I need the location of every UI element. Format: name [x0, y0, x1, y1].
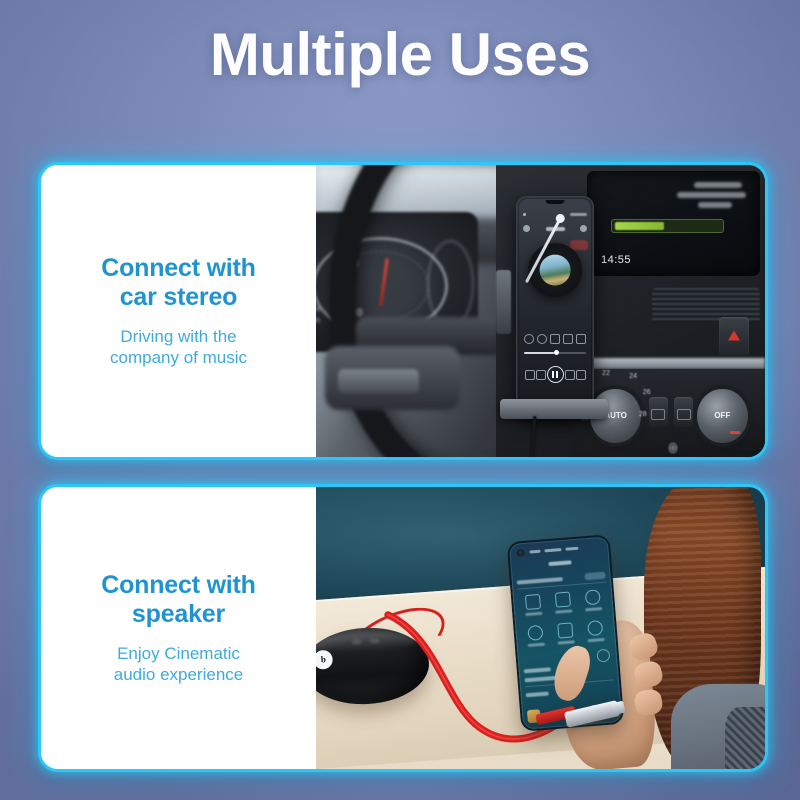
climate-indicator-led: [730, 431, 740, 434]
card-heading-line-1: Connect with: [101, 254, 256, 283]
device-name-label: [516, 576, 562, 584]
playback-controls: [525, 365, 586, 384]
climate-mark-28: 28: [639, 411, 647, 418]
player-action-row: [524, 333, 586, 346]
grid-item[interactable]: [518, 590, 547, 620]
front-defrost-button[interactable]: [674, 397, 693, 427]
card-subtitle-line-1: Driving with the: [110, 326, 247, 347]
infotainment-screen: 14:55: [587, 171, 759, 276]
grid-item[interactable]: [548, 587, 577, 617]
card-text-panel: Connect with car stereo Driving with the…: [41, 165, 316, 457]
vinyl-record: [528, 243, 582, 297]
connect-button[interactable]: [583, 572, 605, 580]
grid-item-label: [587, 638, 604, 642]
person-sleeve: [725, 707, 765, 769]
steering-wheel-button: [338, 369, 419, 392]
speaker-scene: b: [316, 487, 765, 769]
card-subtitle: Enjoy Cinematic audio experience: [114, 643, 243, 685]
carrier-label: [544, 548, 560, 552]
mounted-phone[interactable]: [516, 196, 595, 418]
lyrics-icon[interactable]: [563, 334, 573, 344]
feature-card-speaker[interactable]: Connect with speaker Enjoy Cinematic aud…: [38, 484, 768, 772]
infotainment-progress-bar: [611, 219, 723, 233]
card-subtitle-line-1: Enjoy Cinematic: [114, 643, 243, 664]
grid-item[interactable]: [580, 616, 609, 646]
chevron-down-icon[interactable]: [523, 225, 530, 232]
album-artwork: [540, 254, 571, 285]
playlist-icon[interactable]: [576, 370, 586, 380]
card-text-panel: Connect with speaker Enjoy Cinematic aud…: [41, 487, 316, 769]
pause-button[interactable]: [547, 366, 564, 383]
status-dot-icon: [523, 213, 526, 216]
phone-holder-base: [500, 399, 608, 419]
grid-item-label: [585, 607, 602, 611]
clock-icon: [587, 620, 603, 636]
grid-item[interactable]: [578, 585, 607, 615]
app-icon-grid: [518, 585, 609, 651]
infotainment-text-line-1: [694, 182, 742, 187]
previous-track-icon[interactable]: [536, 370, 546, 380]
climate-small-knob[interactable]: [668, 442, 678, 453]
grid-item[interactable]: [550, 618, 579, 648]
rear-defrost-button[interactable]: [649, 397, 668, 427]
climate-dial-right[interactable]: OFF: [697, 389, 747, 443]
card-subtitle: Driving with the company of music: [110, 326, 247, 368]
status-signal-icons: [570, 213, 587, 216]
infotainment-text-line-2: [677, 192, 746, 198]
card-subtitle-line-2: company of music: [110, 347, 247, 368]
list-row-label: [525, 691, 548, 697]
car-interior-scene: 70 50 30 h 4.6m 2.0m: [316, 165, 765, 457]
warning-triangle-icon: [728, 330, 740, 340]
climate-mark-22: 22: [602, 370, 610, 377]
infotainment-text-line-3: [698, 202, 732, 207]
poster-canvas: Multiple Uses Connect with car stereo Dr…: [0, 0, 800, 800]
card-heading-line-2: speaker: [101, 600, 256, 629]
favorite-icon[interactable]: [524, 334, 534, 344]
grid-item[interactable]: [521, 621, 550, 651]
console-chrome-trim: [571, 358, 765, 370]
card-heading: Connect with car stereo: [101, 254, 256, 312]
grid-item-label: [527, 643, 544, 647]
bluetooth-icon: [524, 594, 540, 610]
card-photo-speaker: b: [316, 487, 765, 769]
climate-mark-26: 26: [643, 389, 651, 396]
card-heading-line-1: Connect with: [101, 571, 256, 600]
phone-holder-arm: [496, 270, 512, 334]
card-heading-line-2: car stereo: [101, 283, 256, 312]
cluster-readout-3: 2.0m: [316, 315, 320, 325]
audio-jack-icon: [554, 591, 570, 607]
grid-item-label: [557, 640, 574, 644]
battery-icon: [564, 547, 577, 551]
grid-item-label: [555, 609, 572, 613]
phone-screen-music-player[interactable]: [519, 199, 592, 415]
page-title: Multiple Uses: [0, 24, 800, 86]
share-icon[interactable]: [580, 225, 587, 232]
hazard-light-button[interactable]: [719, 317, 749, 355]
download-icon[interactable]: [537, 334, 547, 344]
grid-item-label: [525, 612, 542, 616]
phone-status-bar: [529, 543, 602, 555]
heart-icon: [527, 625, 543, 641]
more-icon[interactable]: [576, 334, 586, 344]
next-track-icon[interactable]: [565, 370, 575, 380]
comment-icon[interactable]: [550, 334, 560, 344]
signal-icon: [529, 550, 541, 554]
feature-card-car-stereo[interactable]: Connect with car stereo Driving with the…: [38, 162, 768, 460]
refresh-icon: [584, 589, 600, 605]
card-photo-car-stereo: 70 50 30 h 4.6m 2.0m: [316, 165, 765, 457]
app-header: [516, 555, 603, 571]
defrost-icon: [651, 409, 665, 420]
app-title: [548, 560, 571, 566]
climate-mark-24: 24: [629, 373, 637, 380]
front-camera-icon: [516, 548, 524, 556]
list-row-label: [523, 667, 550, 673]
card-heading: Connect with speaker: [101, 571, 256, 629]
document-icon: [557, 622, 573, 638]
playback-progress-bar[interactable]: [524, 352, 586, 354]
climate-off-label: OFF: [714, 411, 730, 420]
phone-notch: [546, 200, 565, 204]
windshield-defrost-icon: [676, 409, 690, 420]
card-subtitle-line-2: audio experience: [114, 664, 243, 685]
cluster-readout-2: 4.6m: [316, 304, 320, 314]
repeat-icon[interactable]: [525, 370, 535, 380]
infotainment-clock: 14:55: [601, 254, 631, 266]
